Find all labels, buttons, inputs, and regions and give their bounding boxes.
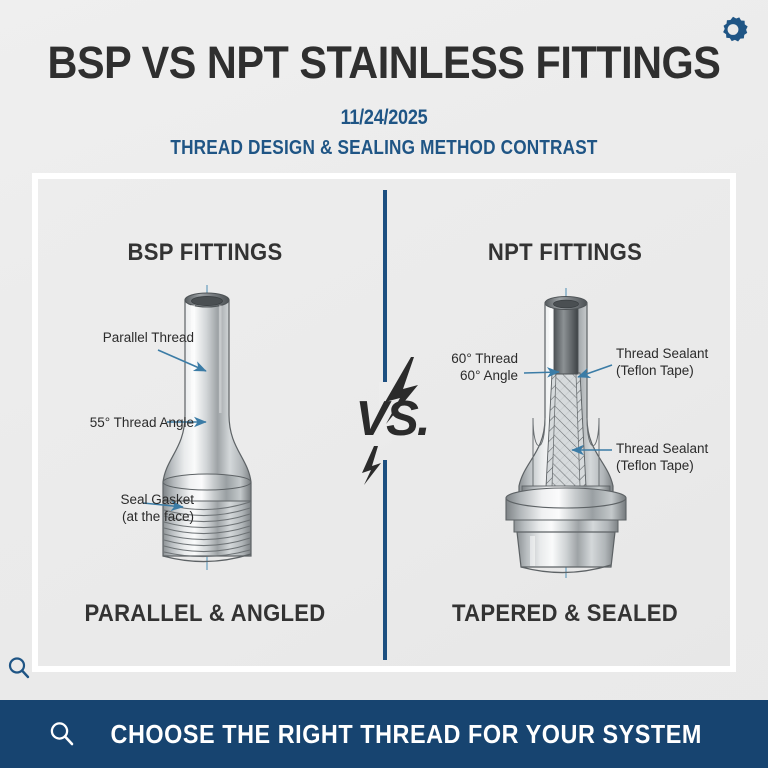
callout-line-1: 55° Thread Angle [48,414,194,431]
npt-column-heading: NPT FITTINGS [432,239,699,267]
callout-parallel-thread: Parallel Thread [64,329,194,346]
bsp-column-footer: PARALLEL & ANGLED [72,600,339,628]
callout-line-1: 60° Thread [440,350,518,367]
bottom-banner: CHOOSE THE RIGHT THREAD FOR YOUR SYSTEM [0,700,768,768]
callout-thread-angle-npt: 60° Thread 60° Angle [440,350,518,384]
callout-line-1: Seal Gasket [50,491,194,508]
page-date: 11/24/2025 [54,106,714,130]
page-title: BSP VS NPT STAINLESS FITTINGS [31,38,738,88]
callout-seal-gasket: Seal Gasket (at the face) [50,491,194,525]
callout-line-2: 60° Angle [440,367,518,384]
search-icon[interactable] [48,720,76,748]
search-icon[interactable] [6,655,32,681]
callout-thread-sealant-top: Thread Sealant (Teflon Tape) [616,345,766,379]
infographic-canvas: BSP VS NPT STAINLESS FITTINGS 11/24/2025… [0,0,768,768]
npt-column-footer: TAPERED & SEALED [432,600,699,628]
callout-line-2: (Teflon Tape) [616,362,766,379]
callout-line-1: Parallel Thread [64,329,194,346]
bsp-column-heading: BSP FITTINGS [72,239,339,267]
banner-headline: CHOOSE THE RIGHT THREAD FOR YOUR SYSTEM [111,719,733,750]
vs-badge: VS. [336,355,448,485]
callout-line-2: (Teflon Tape) [616,457,766,474]
callout-thread-sealant-bottom: Thread Sealant (Teflon Tape) [616,440,766,474]
page-subtitle: THREAD DESIGN & SEALING METHOD CONTRAST [54,137,714,160]
vs-label: VS. [336,393,448,445]
callout-line-1: Thread Sealant [616,440,766,457]
callout-line-2: (at the face) [50,508,194,525]
callout-line-1: Thread Sealant [616,345,766,362]
callout-thread-angle-bsp: 55° Thread Angle [48,414,194,431]
